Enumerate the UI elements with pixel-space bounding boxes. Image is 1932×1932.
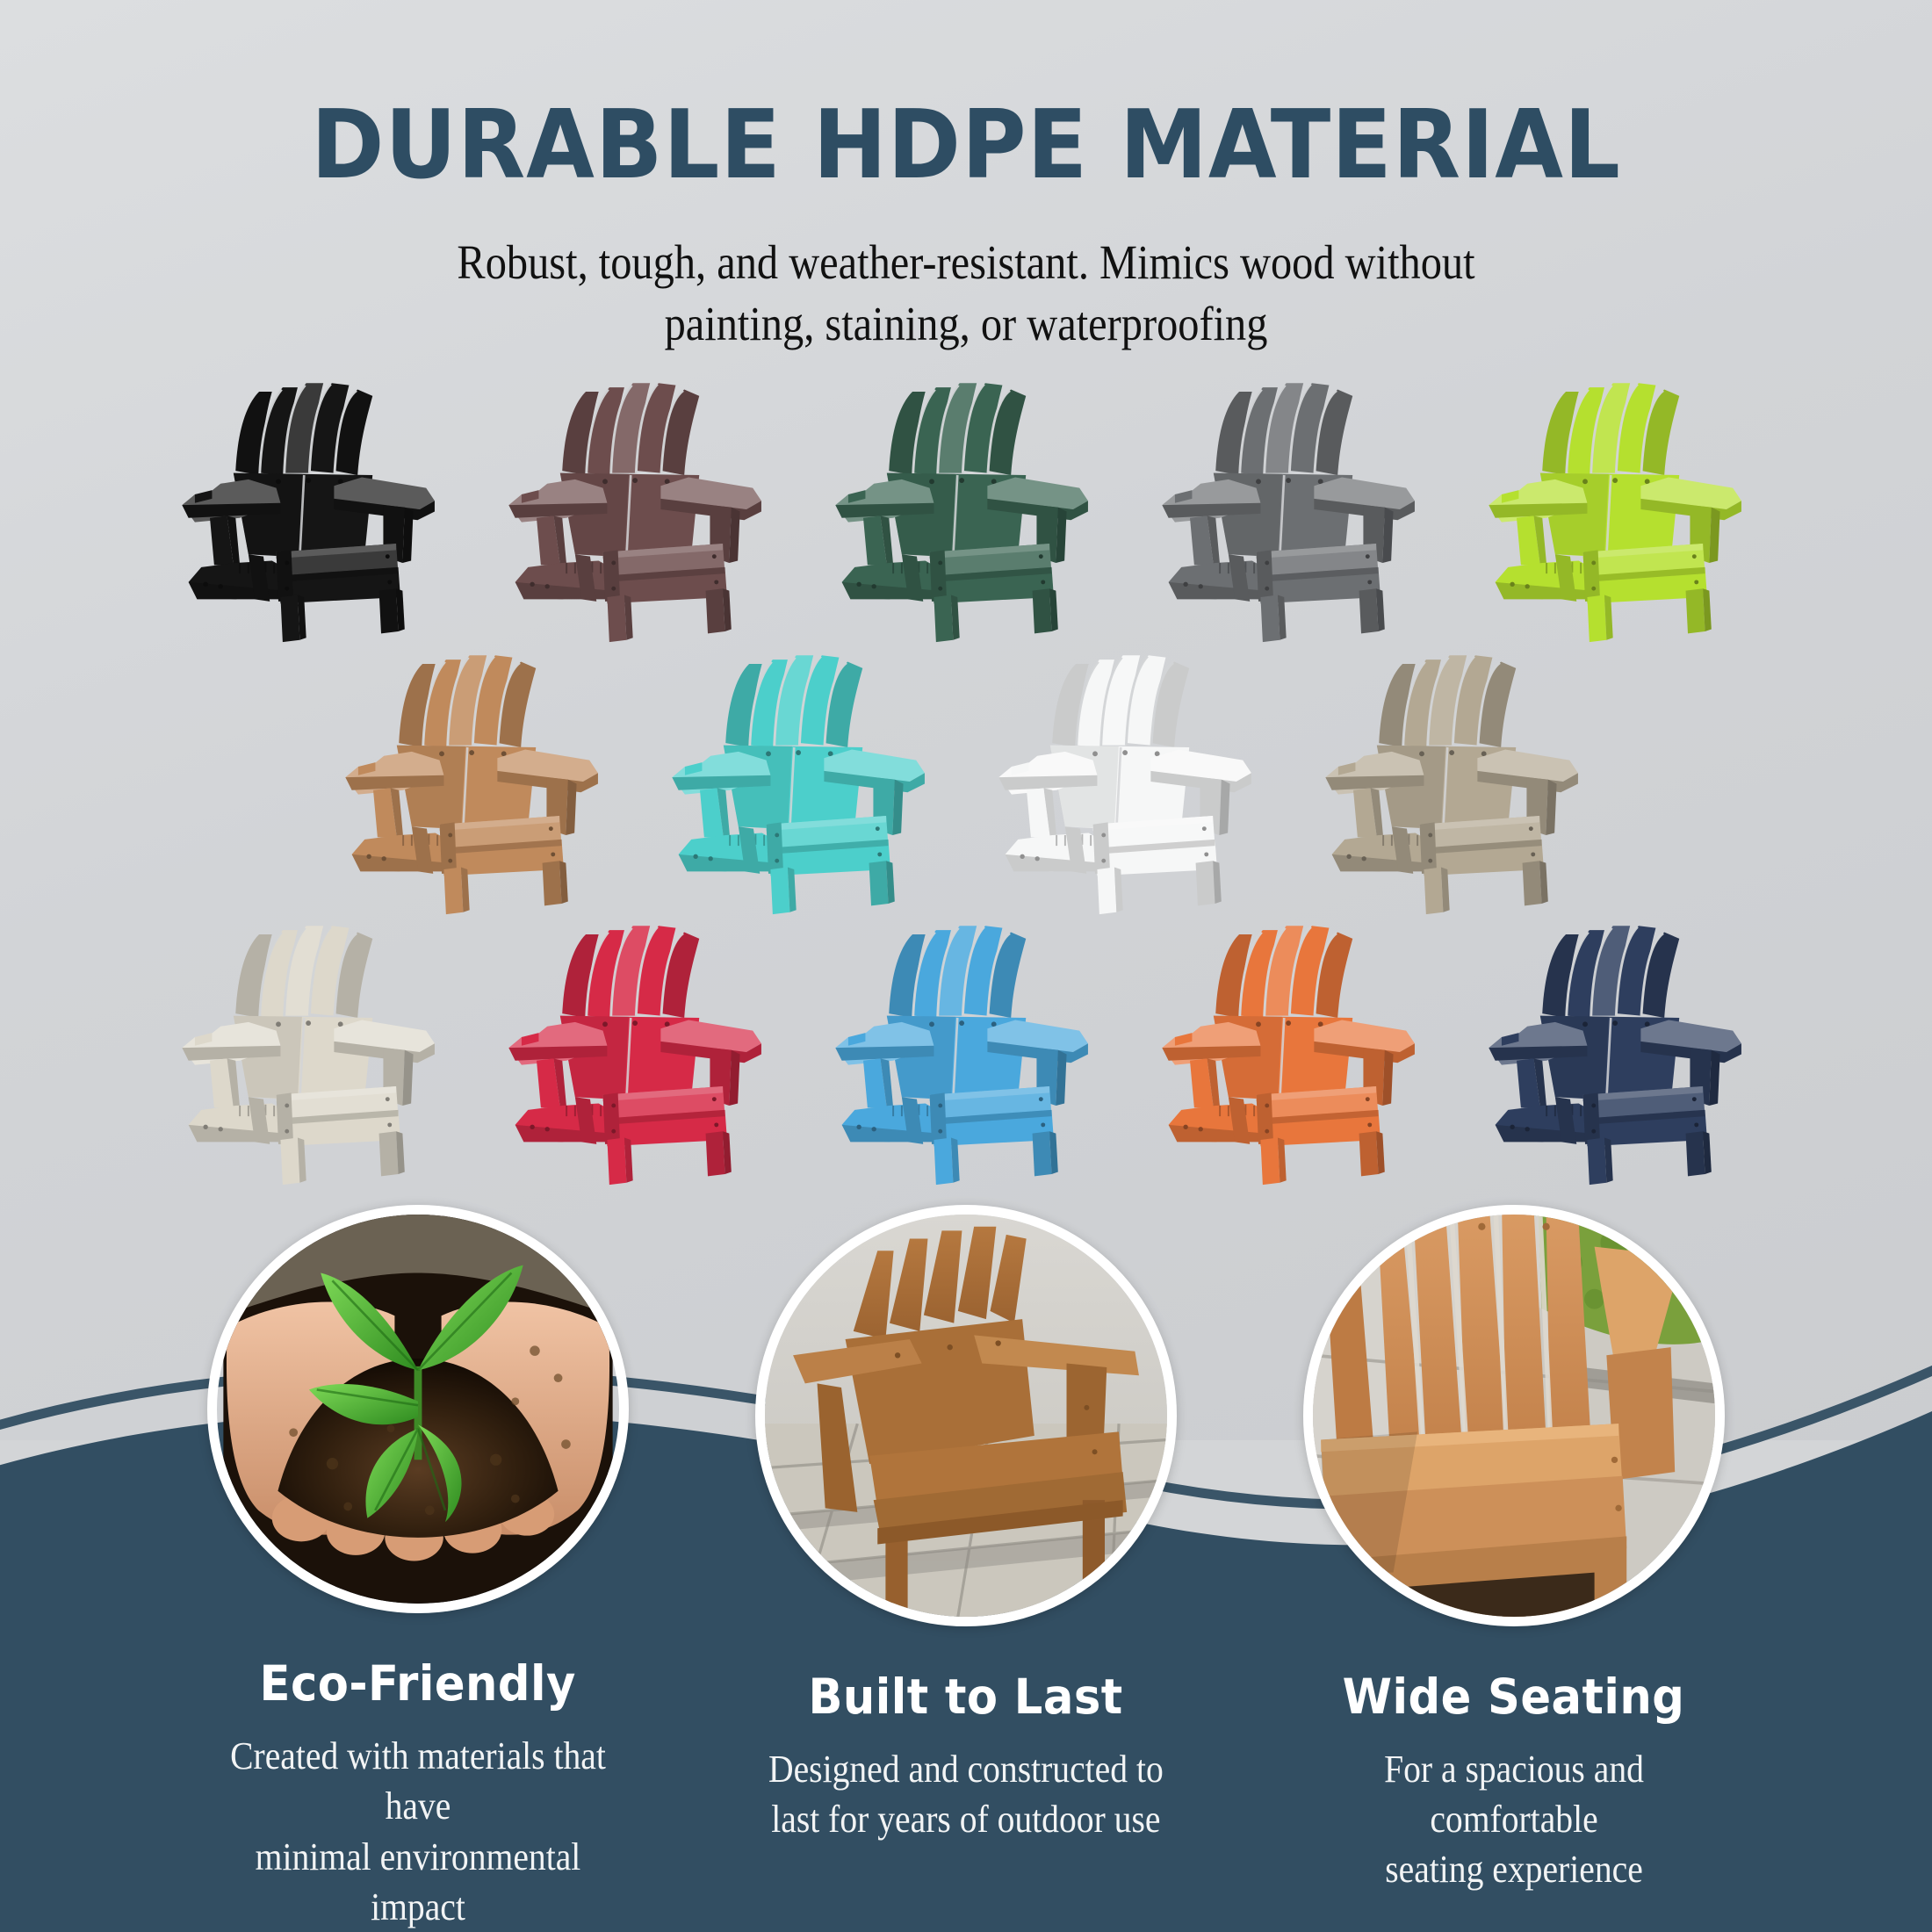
chair-folding-bracket [515,561,618,600]
header: DURABLE HDPE MATERIAL Robust, tough, and… [0,0,1932,356]
chair-folding-bracket [842,561,945,600]
feature-eco-friendly: Eco-Friendly Created with materials that… [181,1205,655,1932]
chair-color-grid: Black [0,367,1932,1189]
chair-illustration: Lime Green [1480,372,1759,646]
chair-row-1: Black [0,367,1932,646]
chair-leg-front-right [706,588,725,633]
feature-desc-line-2: minimal environmental impact [205,1832,631,1932]
chair-folding-bracket [515,1104,618,1143]
chair-folding-bracket [1496,1104,1598,1143]
chair-folding-bracket [189,1104,292,1143]
chair-leg-front-right [543,861,562,905]
chair-leg-front-left [934,1138,953,1186]
chair-illustration: Teak [336,645,616,919]
chair-leg-front-right [379,588,399,633]
chair-navy-blue[interactable]: Navy Blue [1456,910,1783,1189]
chair-leg-front-right [1686,588,1705,633]
chair-folding-bracket [1006,833,1108,872]
chair-red[interactable]: Red [476,910,803,1189]
chair-leg-front-left [1587,1138,1606,1186]
chair-illustration: Light Blue [826,915,1106,1189]
feature-built-to-last: Built to Last Designed and constructed t… [729,1205,1203,1932]
chair-leg-front-right [379,1131,399,1176]
chair-illustration: Brown [500,372,779,646]
chair-leg-front-left [607,1138,626,1186]
chair-folding-bracket [1496,561,1598,600]
feature-desc-line-1: Created with materials that have [205,1731,631,1831]
chair-folding-bracket [842,1104,945,1143]
chair-illustration: White [990,645,1269,919]
chair-leg-front-left [443,868,463,915]
chair-turquoise[interactable]: Turquoise [639,639,966,919]
chair-leg-front-left [280,595,299,643]
chair-lime-green[interactable]: Lime Green [1456,367,1783,646]
chair-leg-front-right [1196,861,1215,905]
chair-light-blue[interactable]: Light Blue [803,910,1129,1189]
chair-illustration: Navy Blue [1480,915,1759,1189]
chair-leg-front-right [1359,588,1379,633]
feature-desc-line-1: Designed and constructed to [768,1744,1164,1794]
feature-list: Eco-Friendly Created with materials that… [0,1205,1932,1932]
feature-title: Built to Last [809,1669,1123,1725]
feature-title: Wide Seating [1343,1669,1685,1725]
chair-leg-front-right [869,861,889,905]
chair-leg-front-right [1359,1131,1379,1176]
chair-leg-front-right [1523,861,1542,905]
chair-teak[interactable]: Teak [313,639,639,919]
chair-folding-bracket [352,833,455,872]
chair-illustration: Dark Green [826,372,1106,646]
feature-photo-eco-friendly [207,1205,629,1613]
chair-illustration: Orange [1153,915,1432,1189]
page-subtitle: Robust, tough, and weather-resistant. Mi… [116,232,1816,356]
chair-leg-front-left [1260,1138,1280,1186]
chair-leg-front-left [607,595,626,643]
chair-folding-bracket [679,833,782,872]
feature-wide-seating: Wide Seating For a spacious and comforta… [1277,1205,1751,1932]
chair-leg-front-right [706,1131,725,1176]
chair-row-3: Ivory [0,919,1932,1189]
chair-leg-front-right [1033,1131,1052,1176]
chair-brown[interactable]: Brown [476,367,803,646]
chair-folding-bracket [1169,561,1272,600]
chair-leg-front-left [934,595,953,643]
chair-illustration: Turquoise [663,645,942,919]
feature-description: Created with materials that have minimal… [205,1731,631,1932]
chair-leg-front-left [280,1138,299,1186]
chair-dark-green[interactable]: Dark Green [803,367,1129,646]
feature-desc-line-1: For a spacious and comfortable [1301,1744,1727,1844]
chair-folding-bracket [1332,833,1435,872]
chair-illustration: Ivory [173,915,452,1189]
feature-desc-line-2: last for years of outdoor use [768,1794,1164,1844]
chair-leg-front-left [1097,868,1116,915]
page-title: DURABLE HDPE MATERIAL [68,98,1864,193]
chair-leg-front-left [1260,595,1280,643]
chair-leg-front-left [770,868,789,915]
feature-title: Eco-Friendly [260,1655,576,1712]
chair-orange[interactable]: Orange [1129,910,1456,1189]
chair-ivory[interactable]: Ivory [149,910,476,1189]
chair-black[interactable]: Black [149,367,476,646]
feature-photo-wide-seating [1303,1205,1725,1626]
chair-gray[interactable]: Gray [1129,367,1456,646]
chair-illustration: Gray [1153,372,1432,646]
feature-description: For a spacious and comfortable seating e… [1301,1744,1727,1895]
chair-khaki[interactable]: Khaki [1293,639,1619,919]
chair-leg-front-right [1686,1131,1705,1176]
subtitle-line-1: Robust, tough, and weather-resistant. Mi… [116,232,1816,293]
chair-folding-bracket [189,561,292,600]
chair-white[interactable]: White [966,639,1293,919]
chair-illustration: Black [173,372,452,646]
chair-leg-front-left [1424,868,1443,915]
feature-description: Designed and constructed to last for yea… [768,1744,1164,1844]
chair-illustration: Red [500,915,779,1189]
feature-desc-line-2: seating experience [1301,1844,1727,1894]
chair-folding-bracket [1169,1104,1272,1143]
chair-leg-front-left [1587,595,1606,643]
chair-illustration: Khaki [1316,645,1596,919]
chair-leg-front-right [1033,588,1052,633]
subtitle-line-2: painting, staining, or waterproofing [116,293,1816,355]
feature-photo-built-to-last [755,1205,1177,1626]
chair-row-2: Teak [0,646,1932,919]
